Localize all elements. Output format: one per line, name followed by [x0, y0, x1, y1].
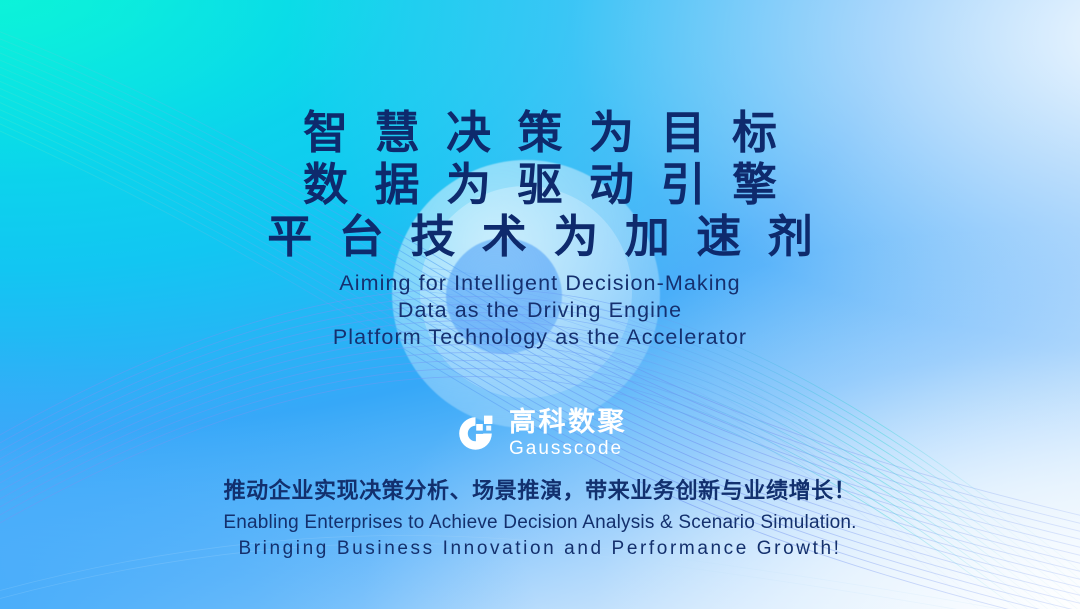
- gausscode-mark-icon: [453, 411, 498, 456]
- brand-name-cn: 高科数聚: [509, 409, 627, 436]
- headline-block: 智 慧 决 策 为 目 标 数 据 为 驱 动 引 擎 平 台 技 术 为 加 …: [260, 107, 820, 263]
- subheadline-block: Aiming for Intelligent Decision-Making D…: [333, 270, 747, 351]
- headline-line-1: 智 慧 决 策 为 目 标: [260, 107, 820, 159]
- footer-tagline-cn: 推动企业实现决策分析、场景推演，带来业务创新与业绩增长！: [223, 477, 856, 505]
- brand-logo: 高科数聚 Gausscode: [453, 409, 627, 458]
- poster-canvas: 智 慧 决 策 为 目 标 数 据 为 驱 动 引 擎 平 台 技 术 为 加 …: [0, 0, 1080, 609]
- subheadline-line-1: Aiming for Intelligent Decision-Making: [333, 270, 747, 297]
- footer-tagline-en-line1: Enabling Enterprises to Achieve Decision…: [223, 510, 856, 535]
- headline-line-2: 数 据 为 驱 动 引 擎: [260, 159, 820, 211]
- headline-line-3: 平 台 技 术 为 加 速 剂: [260, 211, 820, 263]
- poster-content: 智 慧 决 策 为 目 标 数 据 为 驱 动 引 擎 平 台 技 术 为 加 …: [0, 0, 1080, 609]
- brand-name-en: Gausscode: [509, 439, 627, 458]
- subheadline-line-3: Platform Technology as the Accelerator: [333, 324, 747, 351]
- subheadline-line-2: Data as the Driving Engine: [333, 297, 747, 324]
- brand-logo-text: 高科数聚 Gausscode: [509, 409, 627, 458]
- footer-tagline-en-line2: Bringing Business Innovation and Perform…: [223, 536, 856, 561]
- footer-block: 推动企业实现决策分析、场景推演，带来业务创新与业绩增长！ Enabling En…: [223, 477, 856, 561]
